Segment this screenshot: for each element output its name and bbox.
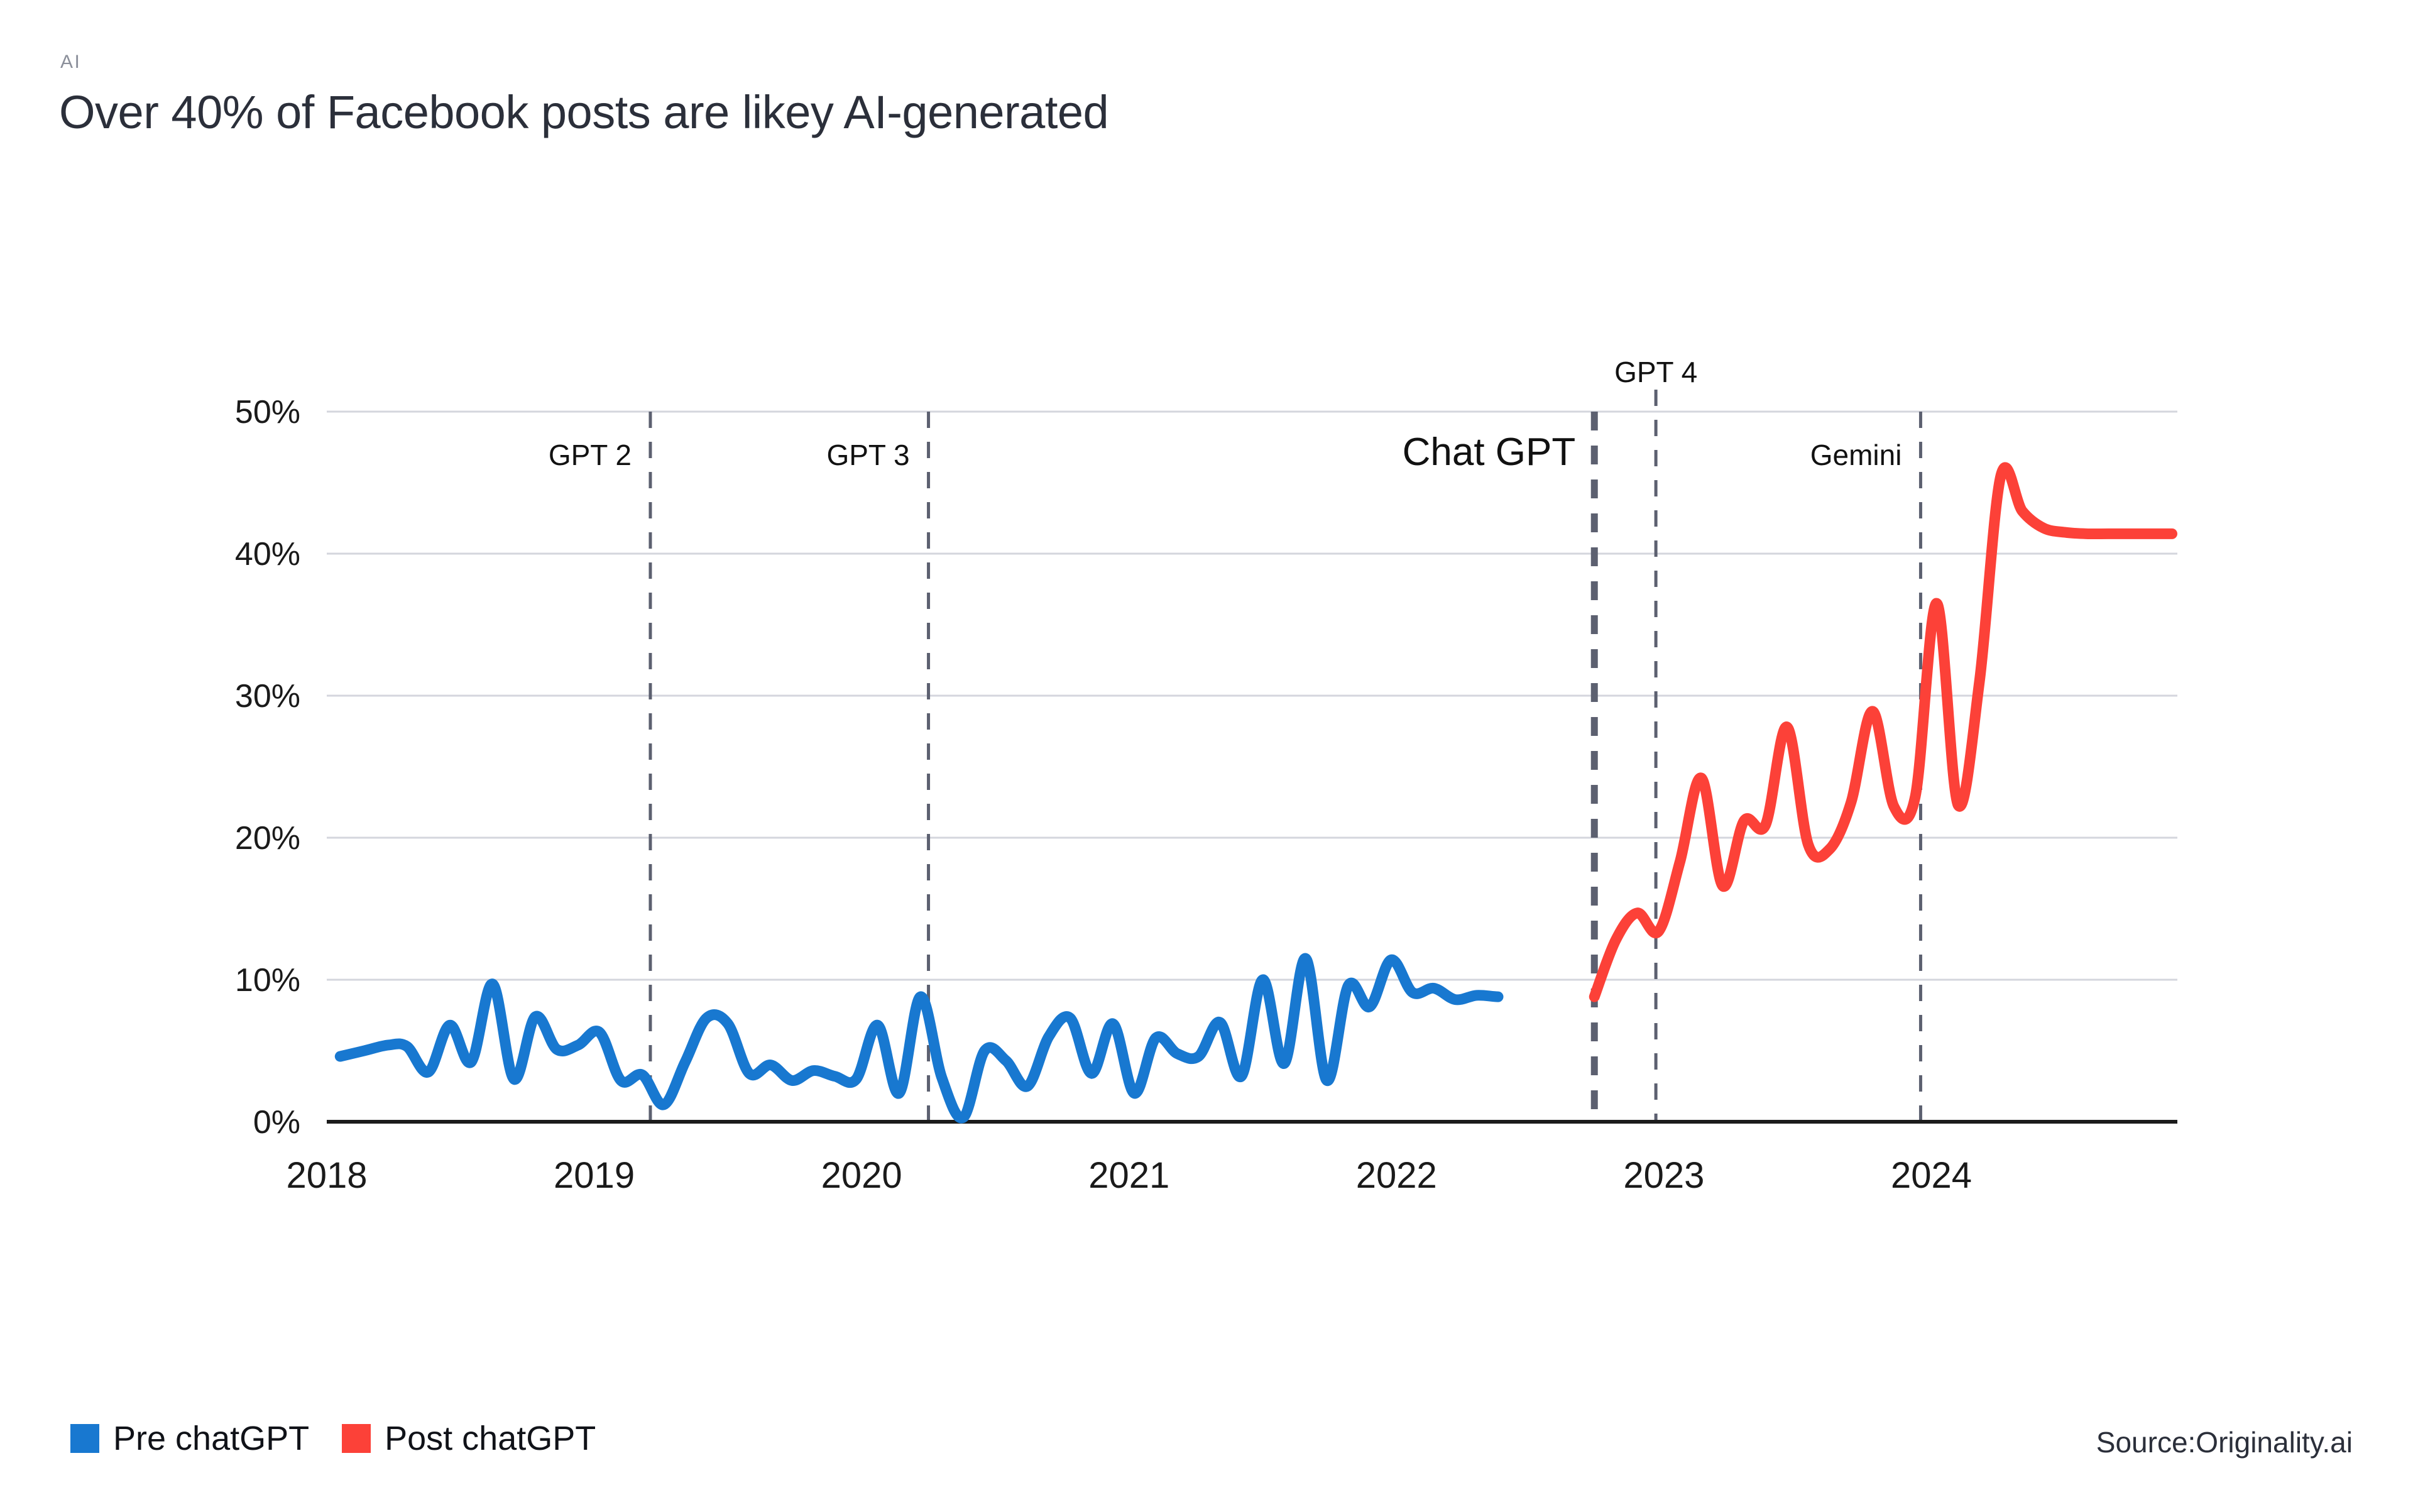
- data-series: [340, 468, 2172, 1118]
- gridlines: [327, 412, 2177, 980]
- event-label-gpt-4: GPT 4: [1614, 356, 1697, 388]
- x-axis-tick-label: 2021: [1088, 1155, 1169, 1196]
- event-label-gpt-2: GPT 2: [549, 439, 632, 471]
- x-axis-tick-label: 2018: [286, 1155, 367, 1196]
- event-label-gemini: Gemini: [1810, 439, 1902, 471]
- event-label-chat-gpt: Chat GPT: [1403, 430, 1576, 474]
- y-axis-tick-label: 10%: [235, 962, 300, 999]
- x-axis-tick-label: 2022: [1356, 1155, 1437, 1196]
- series-line-pre-chatgpt: [340, 958, 1498, 1118]
- legend-swatch-pre-chatgpt: [70, 1424, 99, 1453]
- event-label-gpt-3: GPT 3: [826, 439, 909, 471]
- legend-item-pre-chatgpt[interactable]: Pre chatGPT: [70, 1419, 309, 1458]
- event-marker-labels: GPT 2GPT 3Chat GPTGPT 4Gemini: [549, 356, 1902, 474]
- y-axis-tick-label: 0%: [253, 1104, 300, 1141]
- y-axis-tick-label: 40%: [235, 536, 300, 572]
- y-axis-tick-label: 20%: [235, 820, 300, 857]
- y-axis-tick-label: 30%: [235, 678, 300, 715]
- chart-legend: Pre chatGPT Post chatGPT: [70, 1419, 596, 1458]
- x-axis-tick-label: 2024: [1891, 1155, 1972, 1196]
- series-line-post-chatgpt: [1594, 468, 2172, 997]
- legend-swatch-post-chatgpt: [342, 1424, 371, 1453]
- event-marker-lines: [650, 390, 1920, 1122]
- legend-label-post-chatgpt: Post chatGPT: [385, 1419, 596, 1458]
- source-attribution: Source:Originality.ai: [2096, 1425, 2353, 1459]
- x-axis-tick-labels: 2018201920202021202220232024: [286, 1155, 1971, 1196]
- x-axis-tick-label: 2019: [554, 1155, 635, 1196]
- legend-label-pre-chatgpt: Pre chatGPT: [113, 1419, 309, 1458]
- line-chart: 0%10%20%30%40%50% 2018201920202021202220…: [0, 0, 2413, 1512]
- x-axis-tick-label: 2020: [821, 1155, 902, 1196]
- chart-container: 0%10%20%30%40%50% 2018201920202021202220…: [0, 0, 2413, 1512]
- y-axis-tick-label: 50%: [235, 394, 300, 430]
- x-axis-tick-label: 2023: [1623, 1155, 1704, 1196]
- legend-item-post-chatgpt[interactable]: Post chatGPT: [342, 1419, 596, 1458]
- y-axis-tick-labels: 0%10%20%30%40%50%: [235, 394, 300, 1141]
